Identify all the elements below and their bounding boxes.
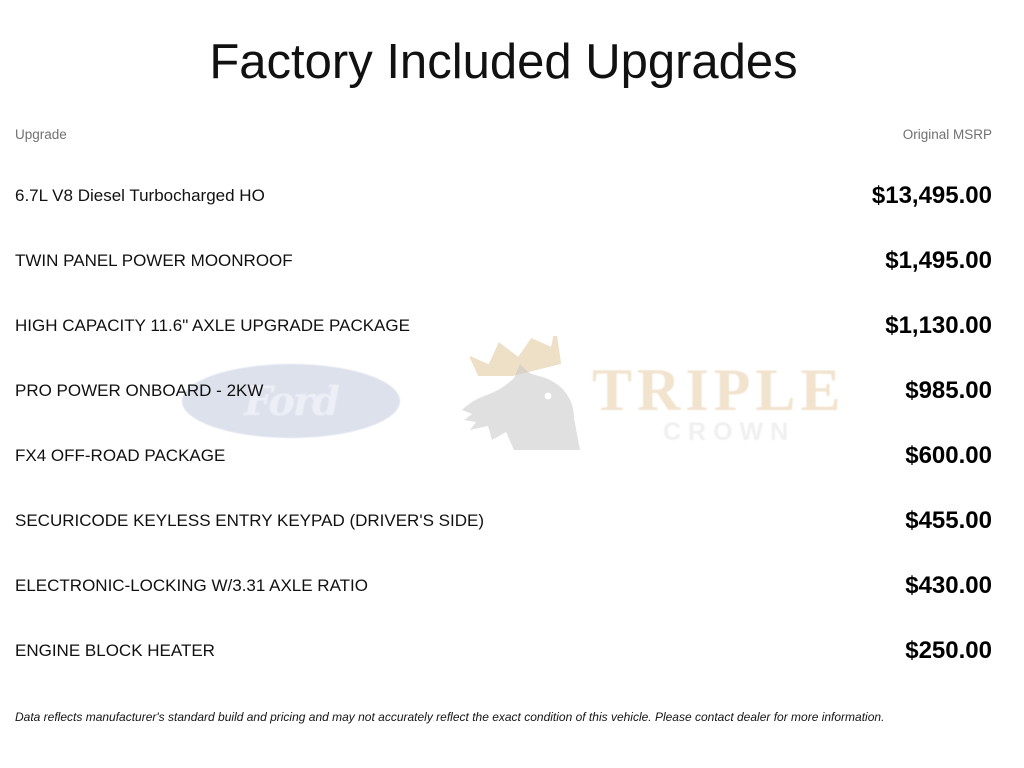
upgrade-name: HIGH CAPACITY 11.6" AXLE UPGRADE PACKAGE	[15, 294, 793, 359]
upgrade-name: PRO POWER ONBOARD - 2KW	[15, 359, 793, 424]
factory-upgrades-table: Upgrade Original MSRP 6.7L V8 Diesel Tur…	[15, 127, 992, 684]
upgrade-name: FX4 OFF-ROAD PACKAGE	[15, 424, 793, 489]
column-header-msrp: Original MSRP	[793, 127, 992, 164]
table-row: ENGINE BLOCK HEATER$250.00	[15, 619, 992, 684]
upgrade-name: 6.7L V8 Diesel Turbocharged HO	[15, 164, 793, 229]
table-row: HIGH CAPACITY 11.6" AXLE UPGRADE PACKAGE…	[15, 294, 992, 359]
table-row: ELECTRONIC-LOCKING W/3.31 AXLE RATIO$430…	[15, 554, 992, 619]
table-header: Upgrade Original MSRP	[15, 127, 992, 164]
column-header-upgrade: Upgrade	[15, 127, 793, 164]
page-title: Factory Included Upgrades	[15, 0, 992, 89]
upgrade-msrp: $13,495.00	[793, 164, 992, 229]
upgrade-name: ELECTRONIC-LOCKING W/3.31 AXLE RATIO	[15, 554, 793, 619]
table-header-row: Upgrade Original MSRP	[15, 127, 992, 164]
upgrades-page: Factory Included Upgrades Upgrade Origin…	[0, 0, 1024, 768]
table-body: 6.7L V8 Diesel Turbocharged HO$13,495.00…	[15, 164, 992, 684]
upgrade-name: TWIN PANEL POWER MOONROOF	[15, 229, 793, 294]
table-row: PRO POWER ONBOARD - 2KW$985.00	[15, 359, 992, 424]
table-row: FX4 OFF-ROAD PACKAGE$600.00	[15, 424, 992, 489]
table-row: SECURICODE KEYLESS ENTRY KEYPAD (DRIVER'…	[15, 489, 992, 554]
upgrade-msrp: $1,130.00	[793, 294, 992, 359]
upgrade-name: ENGINE BLOCK HEATER	[15, 619, 793, 684]
upgrade-msrp: $430.00	[793, 554, 992, 619]
table-row: 6.7L V8 Diesel Turbocharged HO$13,495.00	[15, 164, 992, 229]
table-row: TWIN PANEL POWER MOONROOF$1,495.00	[15, 229, 992, 294]
upgrade-msrp: $1,495.00	[793, 229, 992, 294]
upgrade-msrp: $250.00	[793, 619, 992, 684]
upgrade-msrp: $985.00	[793, 359, 992, 424]
disclaimer-text: Data reflects manufacturer's standard bu…	[15, 710, 1009, 726]
upgrade-msrp: $455.00	[793, 489, 992, 554]
upgrade-msrp: $600.00	[793, 424, 992, 489]
upgrade-name: SECURICODE KEYLESS ENTRY KEYPAD (DRIVER'…	[15, 489, 793, 554]
